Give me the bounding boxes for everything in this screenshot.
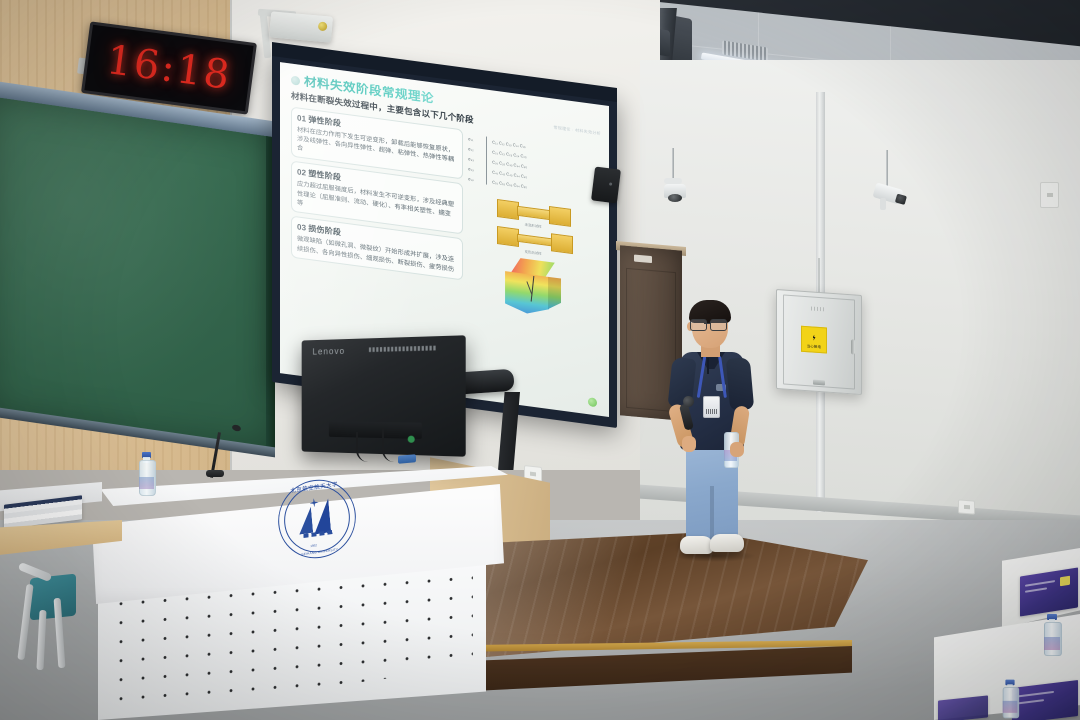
- presenter-shoe-left: [680, 536, 713, 554]
- table-water-bottle-2: [1003, 680, 1018, 719]
- lecture-hall-scene: 16:18 材料失效阶段常规理论 材料在断裂失效过程中，主要包含以下几个阶段 常…: [0, 0, 1080, 720]
- presenter-placket: [707, 358, 709, 374]
- podium-control-button[interactable]: [398, 454, 416, 464]
- bullet-camera-pole: [886, 150, 888, 188]
- presenter-sleeve-right: [726, 357, 754, 411]
- dome-camera-lens-icon: [668, 194, 682, 202]
- wall-socket-2[interactable]: [958, 499, 975, 514]
- presenter-hand-left: [682, 436, 696, 452]
- slide-section-title: 损伤阶段: [308, 224, 341, 237]
- bottle-label: [1003, 701, 1018, 713]
- ceiling-projector: [269, 11, 333, 42]
- chalkboard-assembly: [0, 96, 274, 467]
- electrical-cabinet[interactable]: 当心触电: [776, 289, 862, 395]
- slide-left-column: 01弹性阶段 材料在应力作用下发生可逆变形，卸载后能够恢复原状，涉及线弹性、各向…: [291, 106, 463, 306]
- monitor-cable-1: [356, 432, 378, 462]
- conference-handout: [938, 695, 988, 720]
- desk-water-bottle: [139, 452, 154, 496]
- glasses-icon: [690, 319, 728, 329]
- monitor-model-strip: ▮▮▮▮▮▮▮▮▮▮▮▮▮▮▮▮▮▮: [368, 344, 436, 353]
- presenter-leg-seam: [710, 486, 714, 542]
- bullet-camera-bracket: [880, 198, 886, 210]
- chair-seat: [30, 574, 76, 621]
- slide-section-number: 02: [297, 168, 306, 178]
- slide-right-column: σ₁₁ σ₂₂ σ₃₃ σ₂₃ σ₁₃ C₁₁ C₁₂ C₁₃ C₁₄ C₁₅ …: [468, 130, 598, 324]
- bottle-label: [139, 477, 154, 489]
- conference-handout: [1012, 680, 1078, 720]
- slide-section-number: 01: [297, 113, 306, 123]
- clock-time-display: 16:18: [104, 40, 233, 96]
- wall-socket-3[interactable]: [1040, 182, 1059, 208]
- presenter-id-badge: [703, 396, 720, 418]
- chalkboard: [0, 96, 274, 451]
- cabinet-lock[interactable]: [813, 380, 825, 386]
- presenter: [660, 300, 772, 572]
- slide-section-number: 03: [297, 223, 306, 233]
- classroom-chair: [16, 558, 88, 678]
- projector-lens: [318, 22, 328, 32]
- slide-page-indicator: [588, 397, 597, 407]
- slide-body: 01弹性阶段 材料在应力作用下发生可逆变形，卸载后能够恢复原状，涉及线弹性、各向…: [291, 106, 598, 324]
- podium-mic-base: [206, 470, 224, 477]
- dome-camera-pole: [672, 148, 674, 180]
- slide-title-badge-icon: [291, 75, 300, 85]
- constitutive-matrix-figure: σ₁₁ σ₂₂ σ₃₃ σ₂₃ σ₁₃ C₁₁ C₁₂ C₁₃ C₁₄ C₁₅ …: [468, 130, 598, 209]
- presenter-hand-right: [730, 442, 744, 457]
- rainbow-stress-cube-figure: [505, 256, 561, 319]
- lightning-bolt-icon: [807, 330, 821, 343]
- lectern-podium: 北京航空航天大学 1952 BEIHANG UNIVERSITY: [88, 466, 508, 720]
- wall-speaker: [591, 167, 621, 204]
- bottle-label: [1044, 637, 1060, 650]
- warning-label: 当心触电: [807, 343, 821, 349]
- table-water-bottle-1: [1044, 614, 1060, 656]
- emblem-sail-icon: [297, 497, 338, 540]
- chair-leg-left: [17, 584, 33, 660]
- cabinet-conduit: [818, 258, 820, 296]
- slide-section-title: 弹性阶段: [308, 114, 341, 127]
- monitor-brand-label: Lenovo: [312, 346, 345, 357]
- cabinet-handle[interactable]: [851, 339, 855, 354]
- slide-section-title: 塑性阶段: [308, 169, 341, 182]
- university-emblem: 北京航空航天大学 1952 BEIHANG UNIVERSITY: [275, 475, 359, 564]
- presenter-shoe-right: [710, 534, 744, 552]
- high-voltage-warning-sign: 当心触电: [801, 326, 827, 354]
- door-sign-plate: [634, 255, 652, 264]
